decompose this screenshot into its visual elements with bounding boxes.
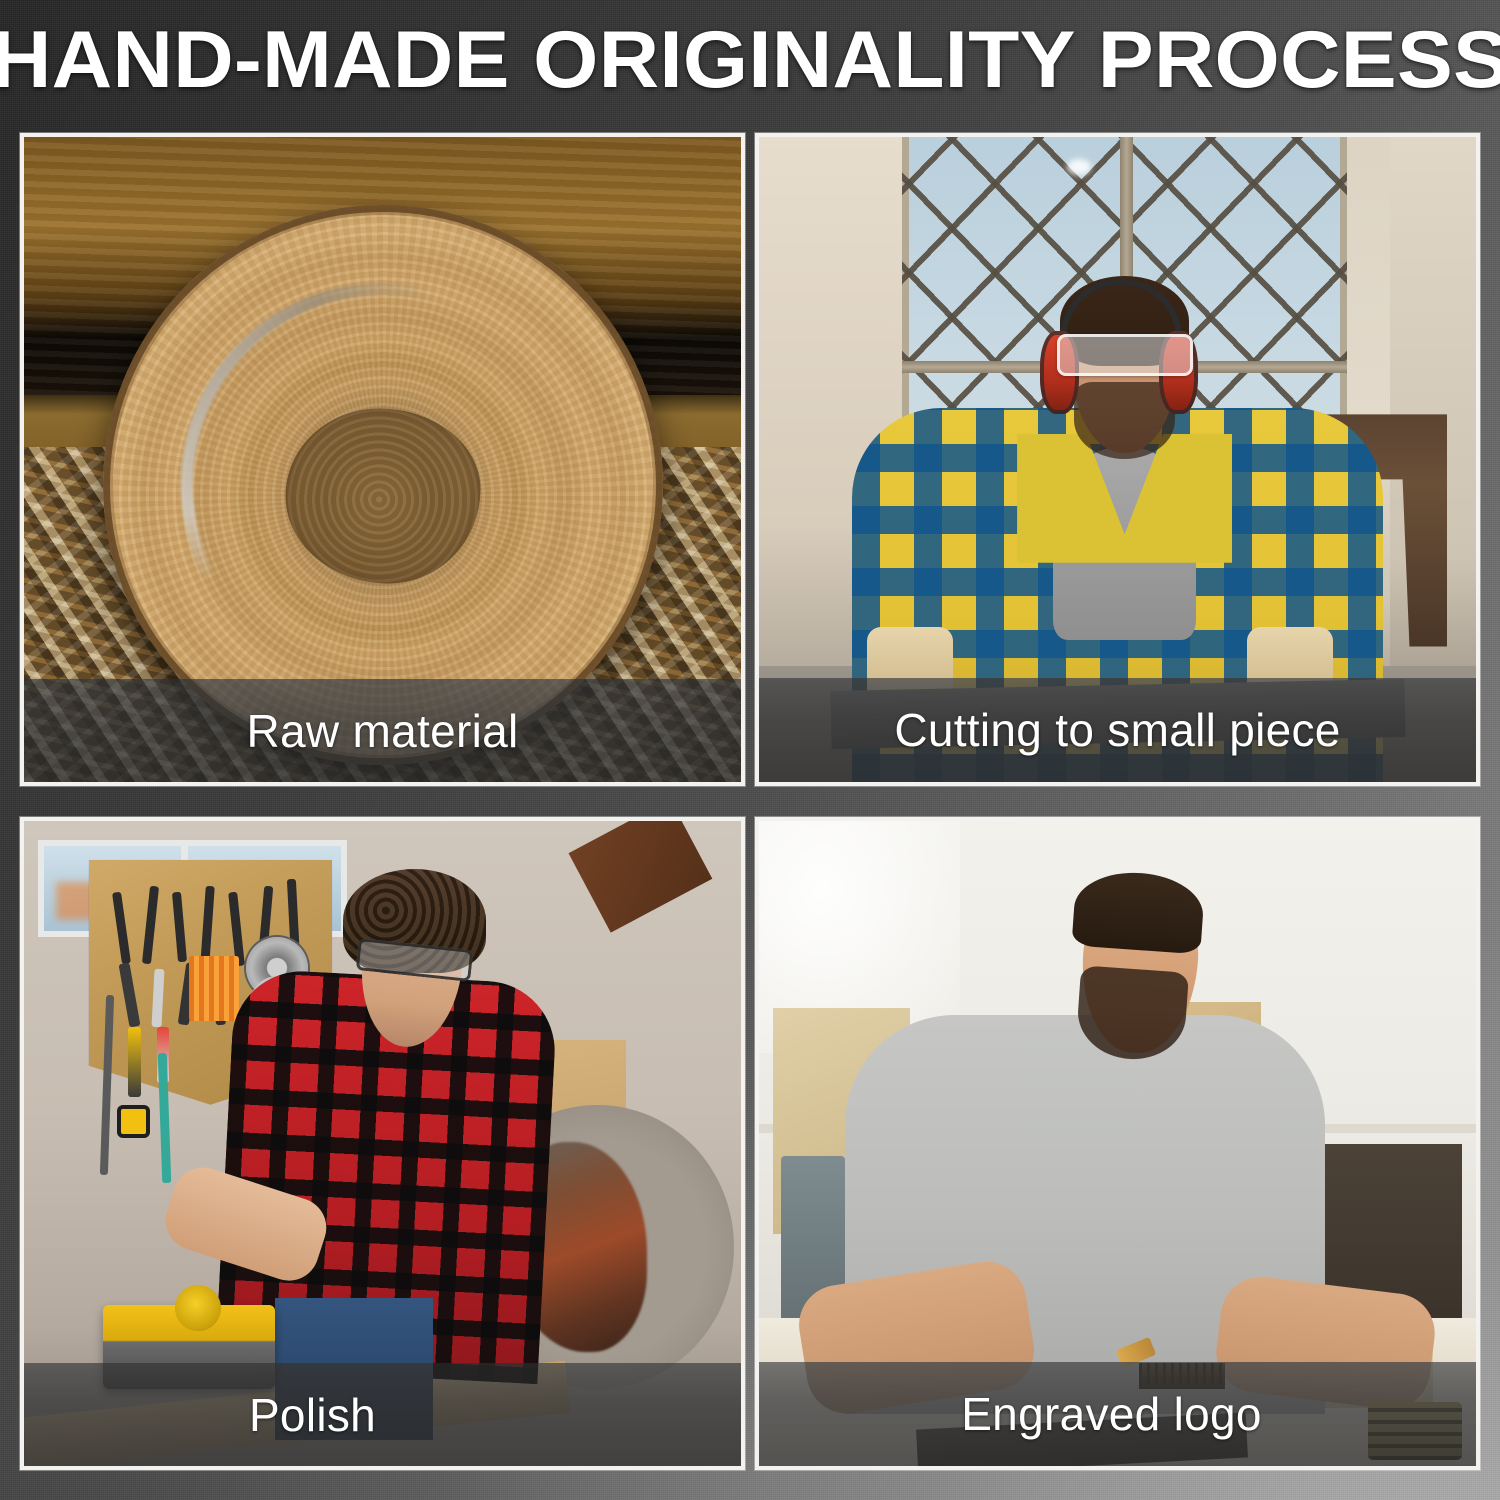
pliers-icon xyxy=(228,892,245,967)
photo-raw-material: Raw material xyxy=(24,137,741,782)
process-step-card-cutting[interactable]: Cutting to small piece xyxy=(755,133,1480,786)
caption-bar-raw-material: Raw material xyxy=(24,679,741,782)
metal-rod-icon xyxy=(100,995,114,1175)
screwdriver-set xyxy=(189,956,239,1021)
process-step-card-polish[interactable]: Polish xyxy=(20,817,745,1470)
pliers-icon xyxy=(112,892,131,965)
sander-grip-knob xyxy=(175,1285,221,1331)
caption-text-engraved-logo: Engraved logo xyxy=(961,1387,1262,1441)
pliers-icon xyxy=(200,885,215,965)
photo-engraved-logo: Engraved logo xyxy=(759,821,1476,1466)
caption-text-polish: Polish xyxy=(249,1388,376,1442)
caption-text-cutting: Cutting to small piece xyxy=(894,703,1340,757)
poster-root: HAND-MADE ORIGINALITY PROCESS Raw materi… xyxy=(0,0,1500,1500)
page-title: HAND-MADE ORIGINALITY PROCESS xyxy=(0,18,1500,102)
process-step-card-raw-material[interactable]: Raw material xyxy=(20,133,745,786)
photo-cutting-to-small-piece: Cutting to small piece xyxy=(759,137,1476,782)
hand-tool-icon xyxy=(128,1027,141,1097)
pliers-icon xyxy=(142,885,159,964)
safety-goggles xyxy=(1057,334,1193,376)
caption-bar-engraved-logo: Engraved logo xyxy=(759,1362,1476,1466)
wire-cutter-icon xyxy=(119,962,141,1027)
photo-polish: Polish xyxy=(24,821,741,1466)
tape-measure-icon xyxy=(117,1105,150,1138)
pliers-icon xyxy=(172,892,187,963)
process-step-card-engraved-logo[interactable]: Engraved logo xyxy=(755,817,1480,1470)
caption-bar-cutting: Cutting to small piece xyxy=(759,678,1476,782)
process-steps-grid: Raw material xyxy=(20,133,1480,1470)
screwdriver-icon xyxy=(152,969,165,1027)
level-icon xyxy=(158,1053,172,1183)
caption-bar-polish: Polish xyxy=(24,1363,741,1466)
caption-text-raw-material: Raw material xyxy=(246,704,518,758)
